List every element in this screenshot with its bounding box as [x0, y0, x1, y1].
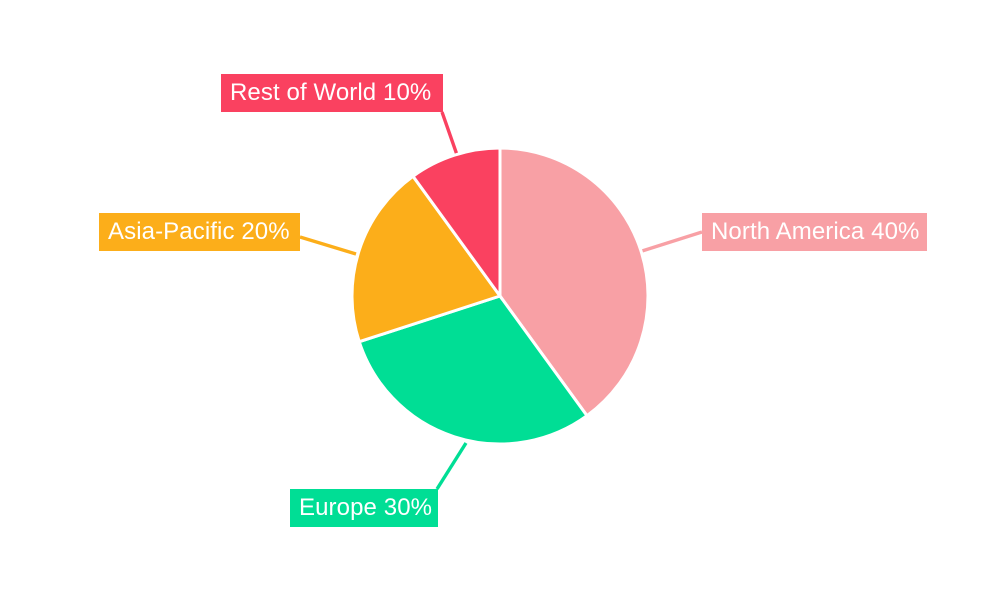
leader-line-asia-pacific: [300, 237, 356, 254]
pie-label-europe-text: Europe 30%: [299, 496, 432, 520]
leader-line-north-america: [641, 232, 703, 252]
pie-label-asia-pacific[interactable]: Asia-Pacific 20%: [99, 213, 300, 251]
pie-label-asia-pacific-text: Asia-Pacific 20%: [108, 220, 290, 244]
leader-line-europe: [437, 443, 466, 489]
pie-label-rest-of-world[interactable]: Rest of World 10%: [221, 74, 443, 112]
pie-label-north-america[interactable]: North America 40%: [702, 213, 927, 251]
pie-label-rest-of-world-text: Rest of World 10%: [230, 81, 431, 105]
pie-chart-figure: North America 40% Europe 30% Asia-Pacifi…: [0, 0, 1000, 600]
pie-label-europe[interactable]: Europe 30%: [290, 489, 438, 527]
pie-label-north-america-text: North America 40%: [711, 220, 919, 244]
pie-chart-canvas: [0, 0, 1000, 600]
